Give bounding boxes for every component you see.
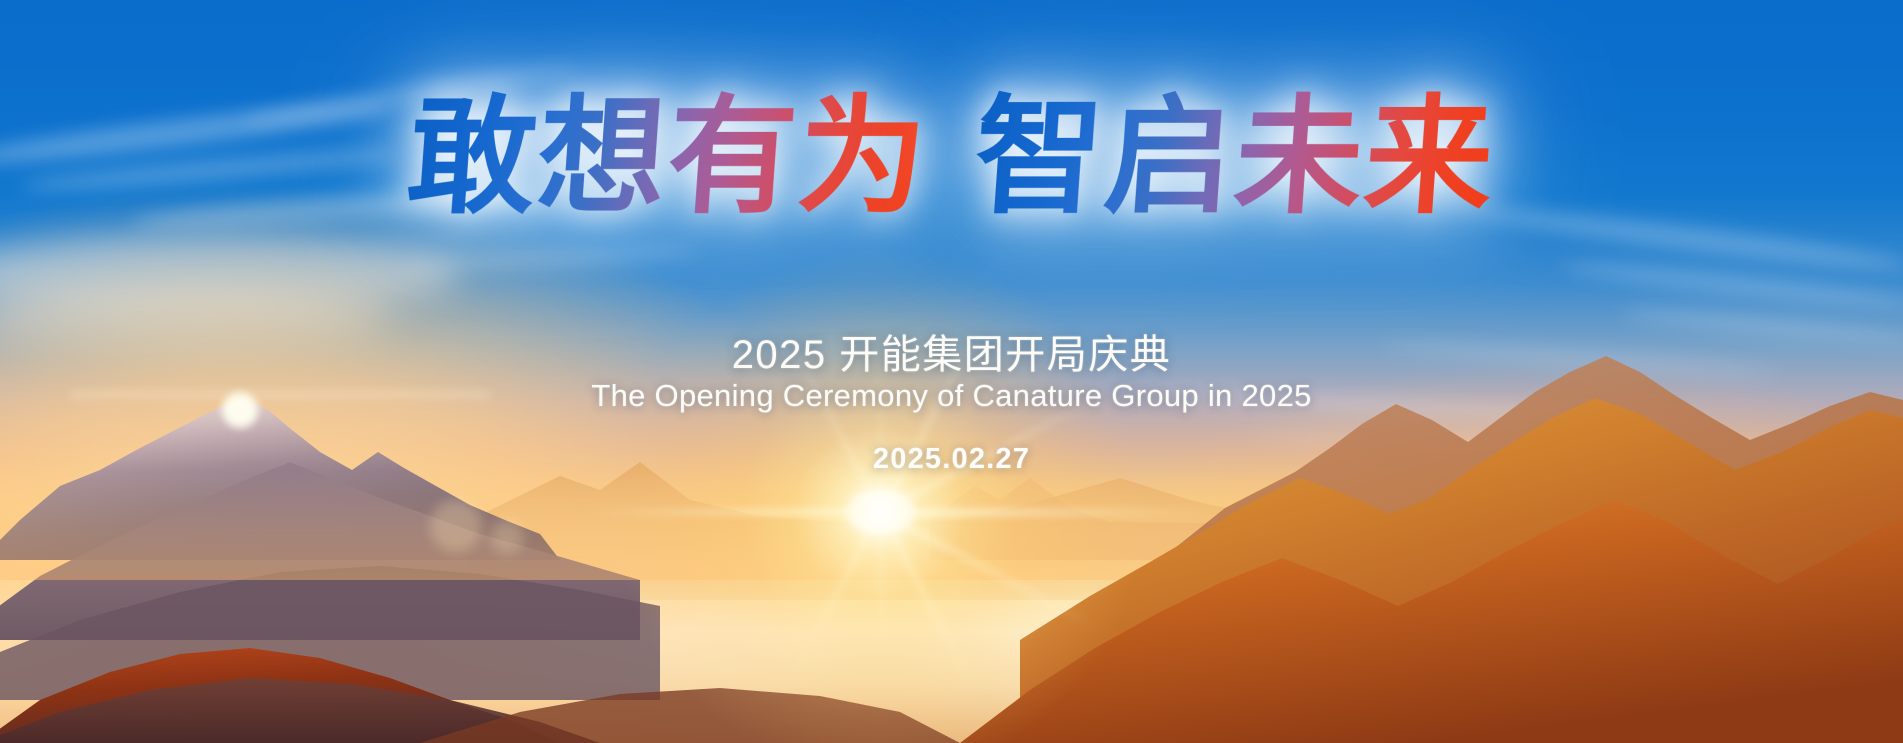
subtitle-english: The Opening Ceremony of Canature Group i… (0, 378, 1903, 414)
headline-segment-1: 敢想有为 (403, 82, 934, 232)
headline-calligraphy: 敢想有为智启未来 (0, 82, 1903, 232)
event-banner: 敢想有为智启未来 2025 开能集团开局庆典 The Opening Cerem… (0, 0, 1903, 743)
event-date: 2025.02.27 (0, 443, 1903, 476)
banner-content: 敢想有为智启未来 2025 开能集团开局庆典 The Opening Cerem… (0, 0, 1903, 743)
subtitle-chinese: 2025 开能集团开局庆典 (0, 322, 1903, 380)
headline-segment-2: 智启未来 (969, 82, 1500, 232)
